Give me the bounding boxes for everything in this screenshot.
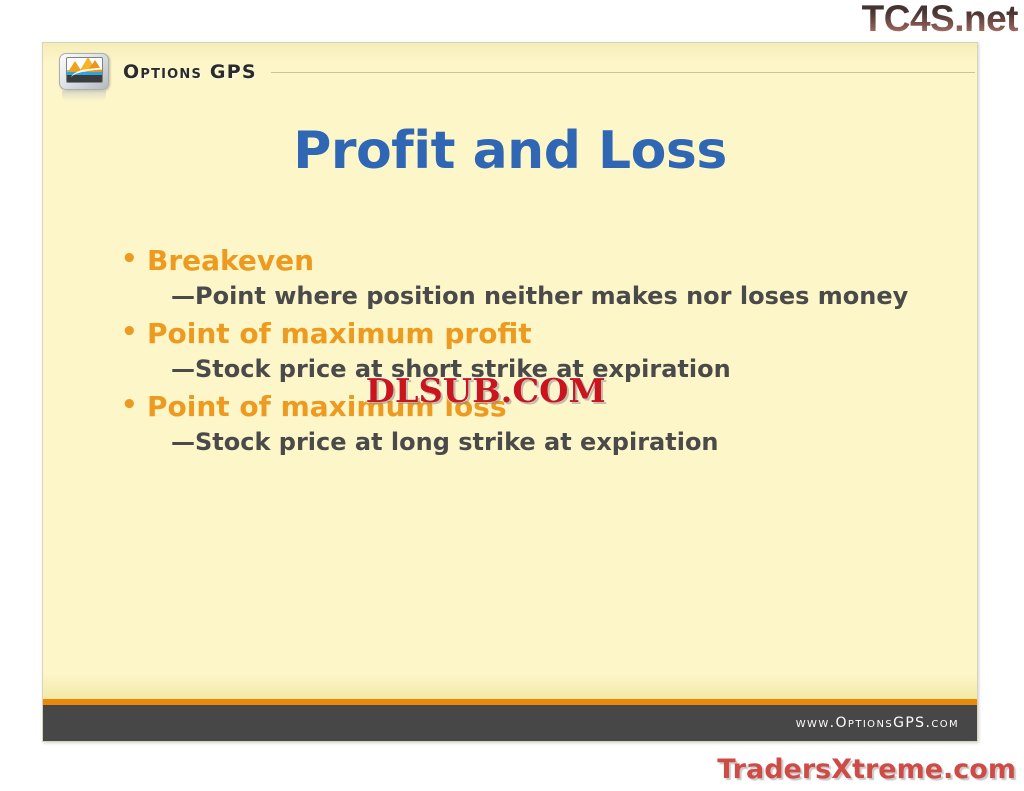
gps-screen-road — [67, 75, 102, 82]
bullet-level2-label: Stock price at long strike at expiration — [195, 427, 947, 458]
bullet-dash-icon: — — [171, 354, 194, 385]
slide-header: Options GPS — [43, 43, 977, 101]
footer-gradient — [43, 674, 977, 699]
page-title: Profit and Loss — [43, 121, 977, 181]
dlsub-watermark: DLSUB.COM — [366, 371, 606, 410]
gps-device-screen — [66, 57, 103, 83]
presentation-slide: Options GPS Profit and Loss • Breakeven … — [42, 42, 978, 742]
bullet-level1-label: Breakeven — [147, 243, 947, 279]
bullet-dot-icon: • — [121, 243, 147, 276]
slide-footer: www.OptionsGPS.com — [43, 705, 977, 741]
header-divider-rule — [271, 72, 975, 73]
footer-url-label: www.OptionsGPS.com — [796, 715, 959, 731]
bullet-level2: — Stock price at long strike at expirati… — [171, 427, 947, 458]
bullet-dot-icon: • — [121, 389, 147, 422]
bullet-level2: — Point where position neither makes nor… — [171, 281, 947, 312]
gps-device-reflection — [62, 91, 106, 101]
tc4s-watermark: TC4S.net — [862, 0, 1018, 40]
slide-body: • Breakeven — Point where position neith… — [121, 243, 947, 462]
bullet-dash-icon: — — [171, 427, 194, 458]
bullet-level1-label: Point of maximum profit — [147, 316, 947, 352]
gps-device-icon — [59, 52, 111, 92]
bullet-dot-icon: • — [121, 316, 147, 349]
tradersxtreme-watermark: TradersXtreme.com — [717, 754, 1016, 785]
bullet-level2-label: Point where position neither makes nor l… — [195, 281, 947, 312]
bullet-level1: • Point of maximum profit — [121, 316, 947, 352]
brand-label: Options GPS — [123, 61, 257, 83]
bullet-group: • Breakeven — Point where position neith… — [121, 243, 947, 312]
bullet-dash-icon: — — [171, 281, 194, 312]
bullet-level1: • Breakeven — [121, 243, 947, 279]
